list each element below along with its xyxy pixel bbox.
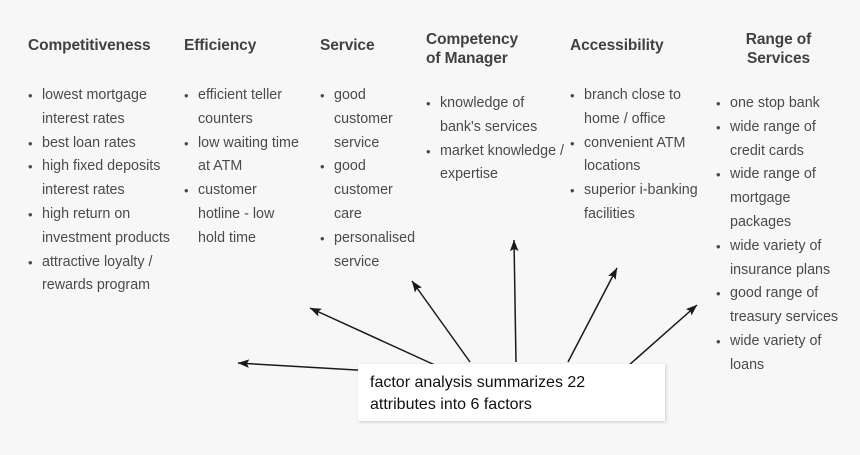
attribute-list-range-of-services: one stop bank wide range of credit cards… xyxy=(716,92,841,378)
factor-column-range-of-services: Range of Services one stop bank wide ran… xyxy=(716,30,841,378)
list-item: one stop bank xyxy=(716,92,841,116)
list-item: attractive loyalty / rewards program xyxy=(28,251,188,299)
list-item: good customer care xyxy=(320,155,420,226)
list-item: low waiting time at ATM xyxy=(184,132,302,180)
factor-column-accessibility: Accessibility branch close to home / off… xyxy=(570,36,700,227)
list-item: knowledge of bank's services xyxy=(426,92,566,140)
factor-column-competitiveness: Competitiveness lowest mortgage interest… xyxy=(28,36,188,298)
column-heading-service: Service xyxy=(320,36,420,55)
list-item: customer hotline - low hold time xyxy=(184,179,302,250)
list-item: convenient ATM locations xyxy=(570,132,700,180)
column-heading-competency-of-manager: Competency of Manager xyxy=(426,30,566,68)
list-item: market knowledge / expertise xyxy=(426,140,566,188)
list-item: good range of treasury services xyxy=(716,282,841,330)
attribute-list-competency-of-manager: knowledge of bank's services market know… xyxy=(426,92,566,187)
list-item: wide variety of loans xyxy=(716,330,841,378)
attribute-list-efficiency: efficient teller counters low waiting ti… xyxy=(184,84,302,251)
list-item: high fixed deposits interest rates xyxy=(28,155,188,203)
list-item: wide range of credit cards xyxy=(716,116,841,164)
list-item: lowest mortgage interest rates xyxy=(28,84,188,132)
list-item: wide range of mortgage packages xyxy=(716,163,841,234)
callout-text: factor analysis summarizes 22 attributes… xyxy=(370,372,655,415)
list-item: efficient teller counters xyxy=(184,84,302,132)
column-heading-efficiency: Efficiency xyxy=(184,36,302,55)
callout-box: factor analysis summarizes 22 attributes… xyxy=(358,364,665,421)
list-item: superior i-banking facilities xyxy=(570,179,700,227)
column-heading-accessibility: Accessibility xyxy=(570,36,700,55)
column-heading-range-of-services: Range of Services xyxy=(716,30,841,68)
attribute-list-competitiveness: lowest mortgage interest rates best loan… xyxy=(28,84,188,298)
factor-column-service: Service good customer service good custo… xyxy=(320,36,420,274)
list-item: personalised service xyxy=(320,227,420,275)
list-item: high return on investment products xyxy=(28,203,188,251)
column-heading-competitiveness: Competitiveness xyxy=(28,36,188,55)
list-item: wide variety of insurance plans xyxy=(716,235,841,283)
list-item: good customer service xyxy=(320,84,420,155)
factor-column-efficiency: Efficiency efficient teller counters low… xyxy=(184,36,302,251)
attribute-list-service: good customer service good customer care… xyxy=(320,84,420,274)
list-item: branch close to home / office xyxy=(570,84,700,132)
attribute-list-accessibility: branch close to home / office convenient… xyxy=(570,84,700,227)
list-item: best loan rates xyxy=(28,132,188,156)
factor-column-competency-of-manager: Competency of Manager knowledge of bank'… xyxy=(426,30,566,187)
diagram-canvas: Competitiveness lowest mortgage interest… xyxy=(0,0,860,455)
